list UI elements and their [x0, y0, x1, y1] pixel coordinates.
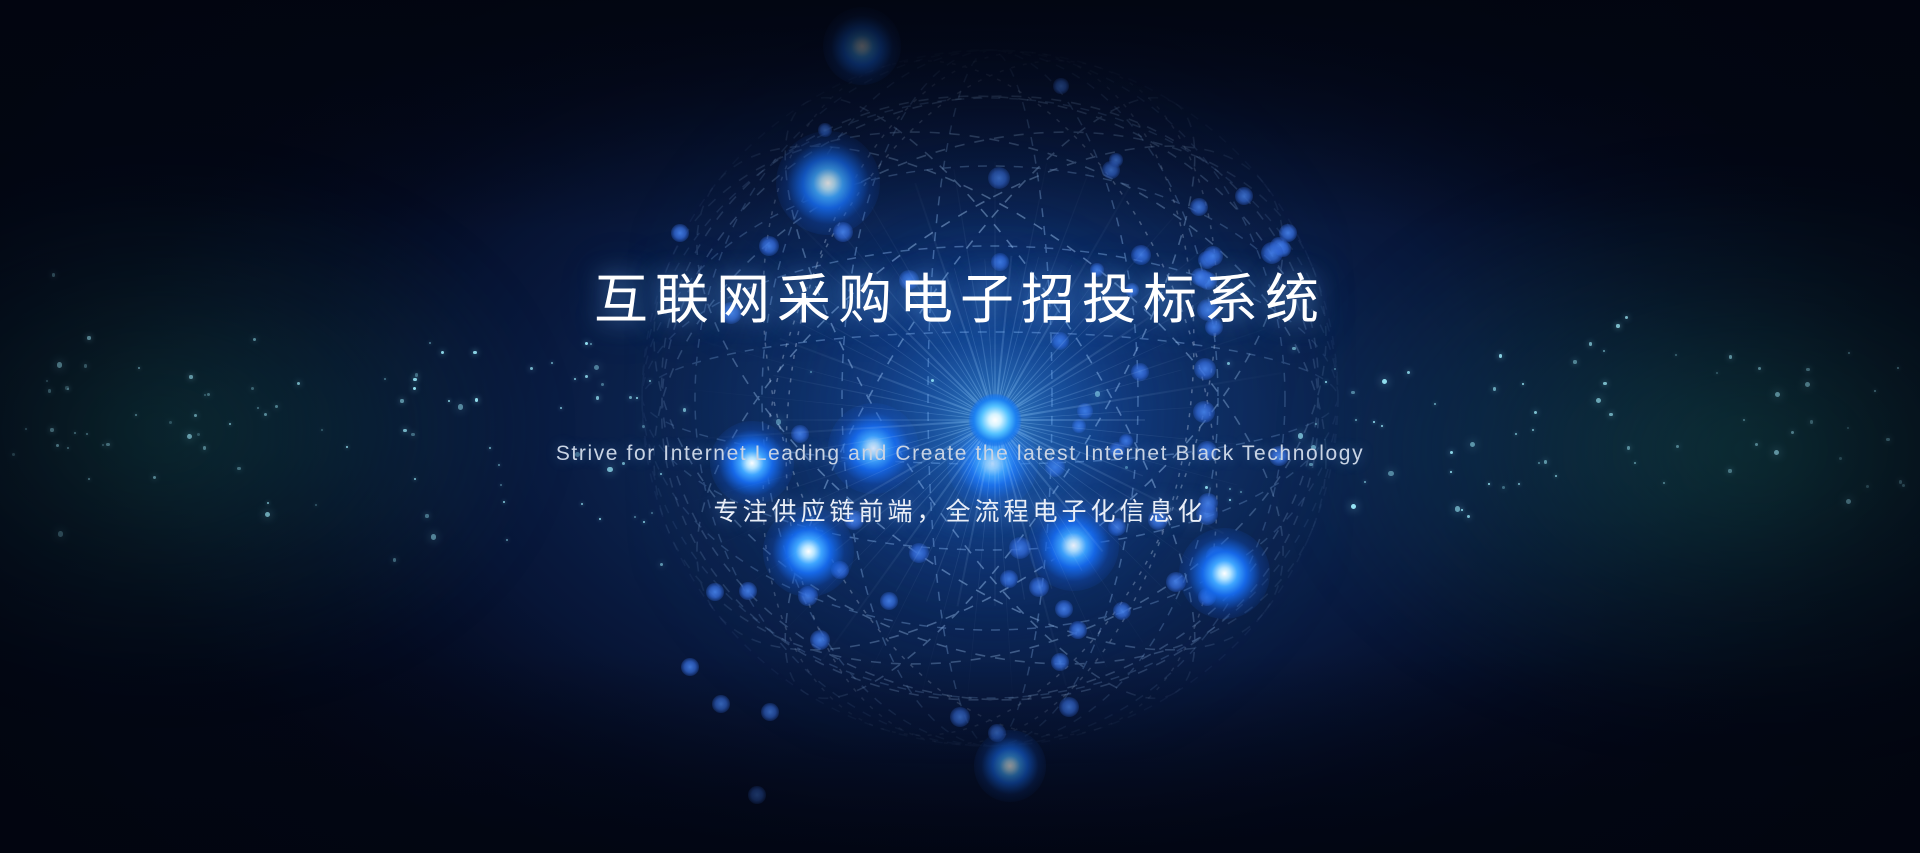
hero-banner: 互联网采购电子招投标系统 Strive for Internet Leading… — [0, 0, 1920, 853]
bottom-shade — [0, 653, 1920, 853]
top-shade — [0, 0, 1920, 230]
